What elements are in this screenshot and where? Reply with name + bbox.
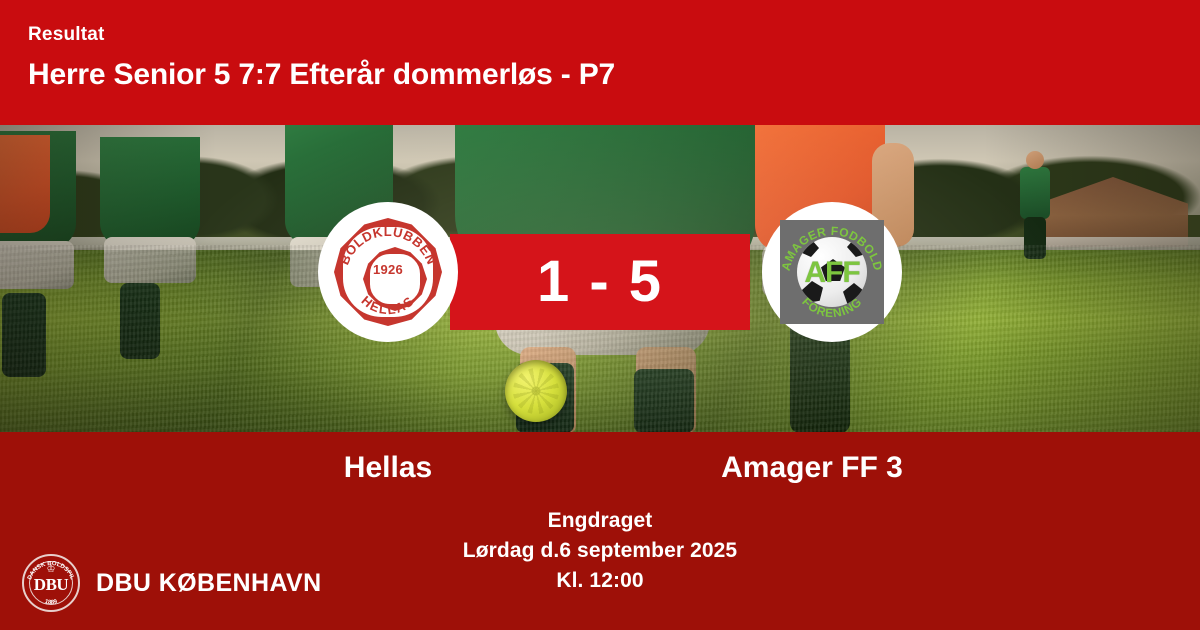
aff-arc-bottom: FORENING bbox=[799, 295, 865, 321]
header-kicker: Resultat bbox=[28, 24, 1200, 46]
score-bar: 1 - 5 bbox=[450, 234, 750, 330]
svg-text:HELLAS: HELLAS bbox=[359, 293, 418, 318]
svg-text:DANSK BOLDSPIL: DANSK BOLDSPIL bbox=[27, 561, 75, 581]
svg-text:1889: 1889 bbox=[44, 599, 59, 606]
aff-letters: AFF bbox=[780, 258, 884, 288]
dbu-arc-text: DANSK BOLDSPIL 1889 bbox=[24, 556, 78, 610]
hellas-top-text: BOLDKLUBBEN bbox=[337, 224, 440, 267]
brand-name: DBU KØBENHAVN bbox=[96, 569, 322, 598]
aff-crest-icon: AMAGER FODBOLD FORENING AFF bbox=[780, 220, 884, 324]
header-banner: Resultat Herre Senior 5 7:7 Efterår domm… bbox=[0, 0, 1200, 125]
hellas-crest-icon: BOLDKLUBBEN HELLAS 1926 bbox=[332, 216, 444, 328]
away-team-name: Amager FF 3 bbox=[642, 450, 982, 486]
home-team-name: Hellas bbox=[218, 450, 558, 486]
svg-text:BOLDKLUBBEN: BOLDKLUBBEN bbox=[337, 224, 440, 267]
svg-text:FORENING: FORENING bbox=[799, 295, 865, 321]
hellas-year: 1926 bbox=[332, 262, 444, 277]
team-names-row: Hellas Amager FF 3 bbox=[0, 450, 1200, 486]
football-icon bbox=[505, 360, 567, 422]
brand-lockup: ♔ DBU DANSK BOLDSPIL 1889 DBU KØBENHAVN bbox=[22, 554, 322, 612]
footer-panel: Hellas Amager FF 3 Engdraget Lørdag d.6 … bbox=[0, 432, 1200, 630]
score-value: 1 - 5 bbox=[450, 234, 750, 330]
home-team-crest: BOLDKLUBBEN HELLAS 1926 bbox=[318, 202, 458, 342]
match-result-card: Resultat Herre Senior 5 7:7 Efterår domm… bbox=[0, 0, 1200, 630]
match-venue: Engdraget bbox=[0, 506, 1200, 536]
page-title: Herre Senior 5 7:7 Efterår dommerløs - P… bbox=[28, 58, 1200, 92]
dbu-arc-top: DANSK BOLDSPIL bbox=[27, 561, 75, 581]
away-team-crest: AMAGER FODBOLD FORENING AFF bbox=[762, 202, 902, 342]
dbu-year: 1889 bbox=[44, 599, 59, 606]
hellas-bottom-text: HELLAS bbox=[359, 293, 418, 318]
dbu-logo-icon: ♔ DBU DANSK BOLDSPIL 1889 bbox=[22, 554, 80, 612]
